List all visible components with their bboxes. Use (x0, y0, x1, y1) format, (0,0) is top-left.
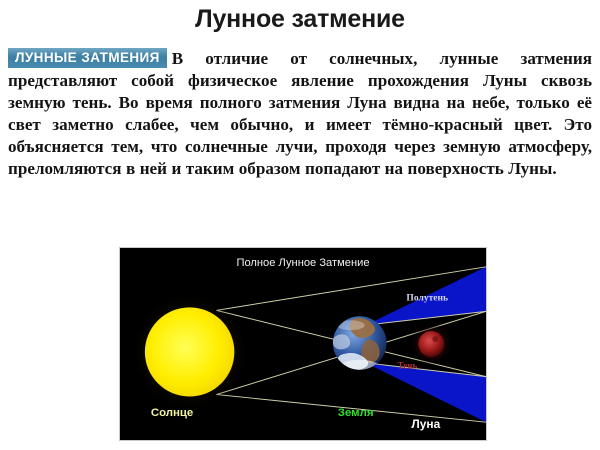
page-title: Лунное затмение (0, 4, 600, 34)
diagram-title: Полное Лунное Затмение (236, 257, 369, 269)
lunar-eclipse-diagram: Полное Лунное Затмение Полутень Тень Сол… (119, 247, 487, 441)
label-sun: Солнце (151, 407, 193, 419)
label-moon: Луна (411, 417, 440, 431)
article-body-text: В отличие от солнечных, лунные затмения … (8, 49, 592, 178)
label-umbra: Тень (397, 361, 417, 371)
label-earth: Земля (338, 407, 374, 419)
label-penumbra: Полутень (406, 293, 448, 303)
moon-crater (432, 336, 438, 342)
sun-body (145, 307, 235, 396)
slide-canvas: Лунное затмение ЛУННЫЕ ЗАТМЕНИЯВ отличие… (0, 0, 600, 450)
article-text-block: ЛУННЫЕ ЗАТМЕНИЯВ отличие от солнечных, л… (8, 48, 592, 181)
earth-cloud-west (333, 334, 350, 349)
lead-badge: ЛУННЫЕ ЗАТМЕНИЯ (8, 48, 167, 68)
eclipse-diagram-svg: Полное Лунное Затмение Полутень Тень Сол… (120, 248, 486, 440)
moon-body (418, 331, 444, 357)
article-paragraph: ЛУННЫЕ ЗАТМЕНИЯВ отличие от солнечных, л… (8, 48, 592, 181)
